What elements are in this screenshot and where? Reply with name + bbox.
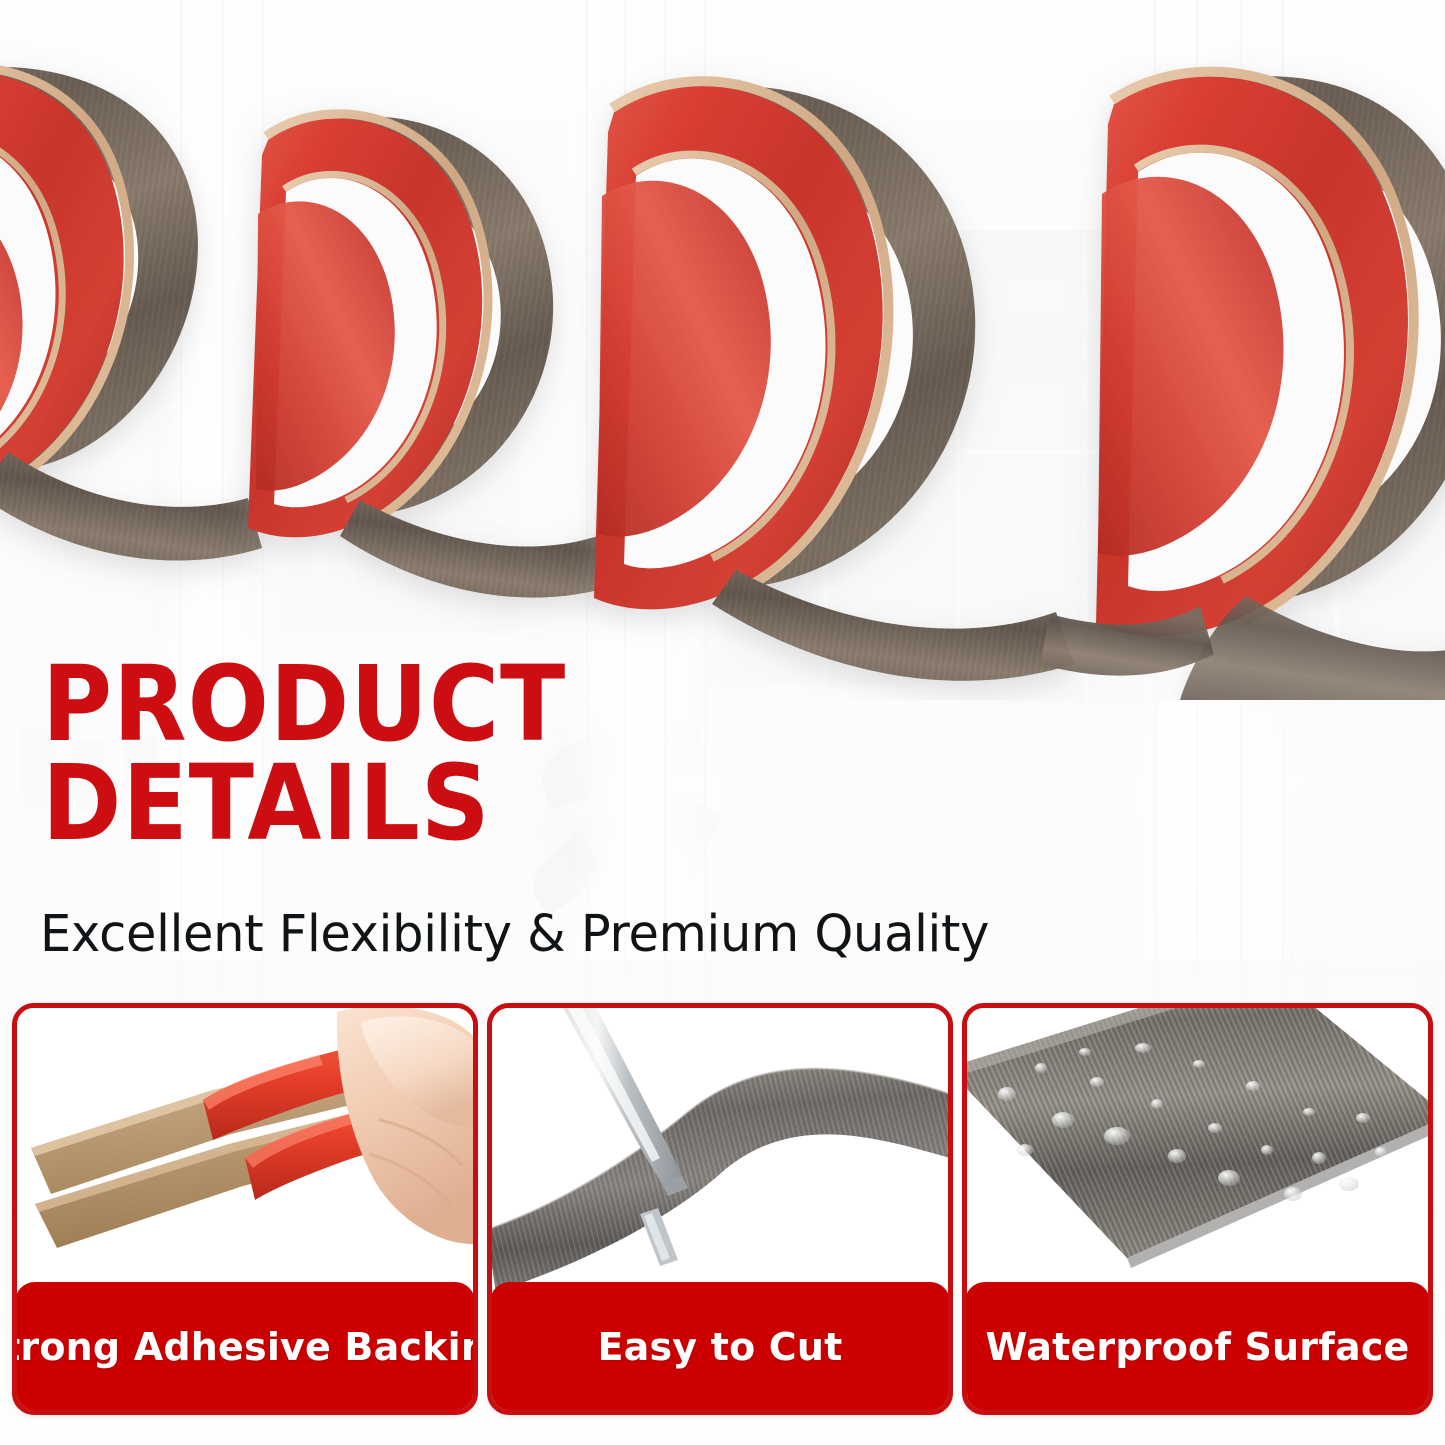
feature-caption-text: Strong Adhesive Backing xyxy=(12,1325,478,1369)
card-separator xyxy=(478,1003,487,1415)
feature-caption-text: Waterproof Surface xyxy=(985,1325,1409,1369)
feature-caption-cut: Easy to Cut xyxy=(490,1282,950,1412)
feature-caption-waterproof: Waterproof Surface xyxy=(965,1282,1430,1412)
title-line-1: PRODUCT xyxy=(42,655,566,754)
feature-card-adhesive[interactable]: Strong Adhesive Backing xyxy=(12,1003,478,1415)
page-title: PRODUCT DETAILS xyxy=(42,655,612,853)
coil-3 xyxy=(594,81,1074,681)
product-detail-image: PRODUCT DETAILS Excellent Flexibility & … xyxy=(0,0,1445,1445)
coil-2 xyxy=(248,114,620,598)
feature-image-adhesive xyxy=(17,1008,473,1300)
page-subtitle: Excellent Flexibility & Premium Quality xyxy=(40,905,989,964)
coil-4 xyxy=(1096,72,1445,700)
feature-card-cut[interactable]: Easy to Cut xyxy=(487,1003,953,1415)
coil-1 xyxy=(0,67,262,561)
title-line-2: DETAILS xyxy=(42,754,566,853)
feature-image-waterproof xyxy=(967,1008,1428,1300)
feature-image-cut xyxy=(492,1008,948,1300)
feature-card-row: Strong Adhesive Backing xyxy=(0,1003,1445,1417)
card-separator xyxy=(953,1003,962,1415)
feature-caption-text: Easy to Cut xyxy=(597,1325,842,1369)
feature-caption-adhesive: Strong Adhesive Backing xyxy=(15,1282,475,1412)
edge-banding-coils xyxy=(0,0,1445,700)
feature-card-waterproof[interactable]: Waterproof Surface xyxy=(962,1003,1433,1415)
